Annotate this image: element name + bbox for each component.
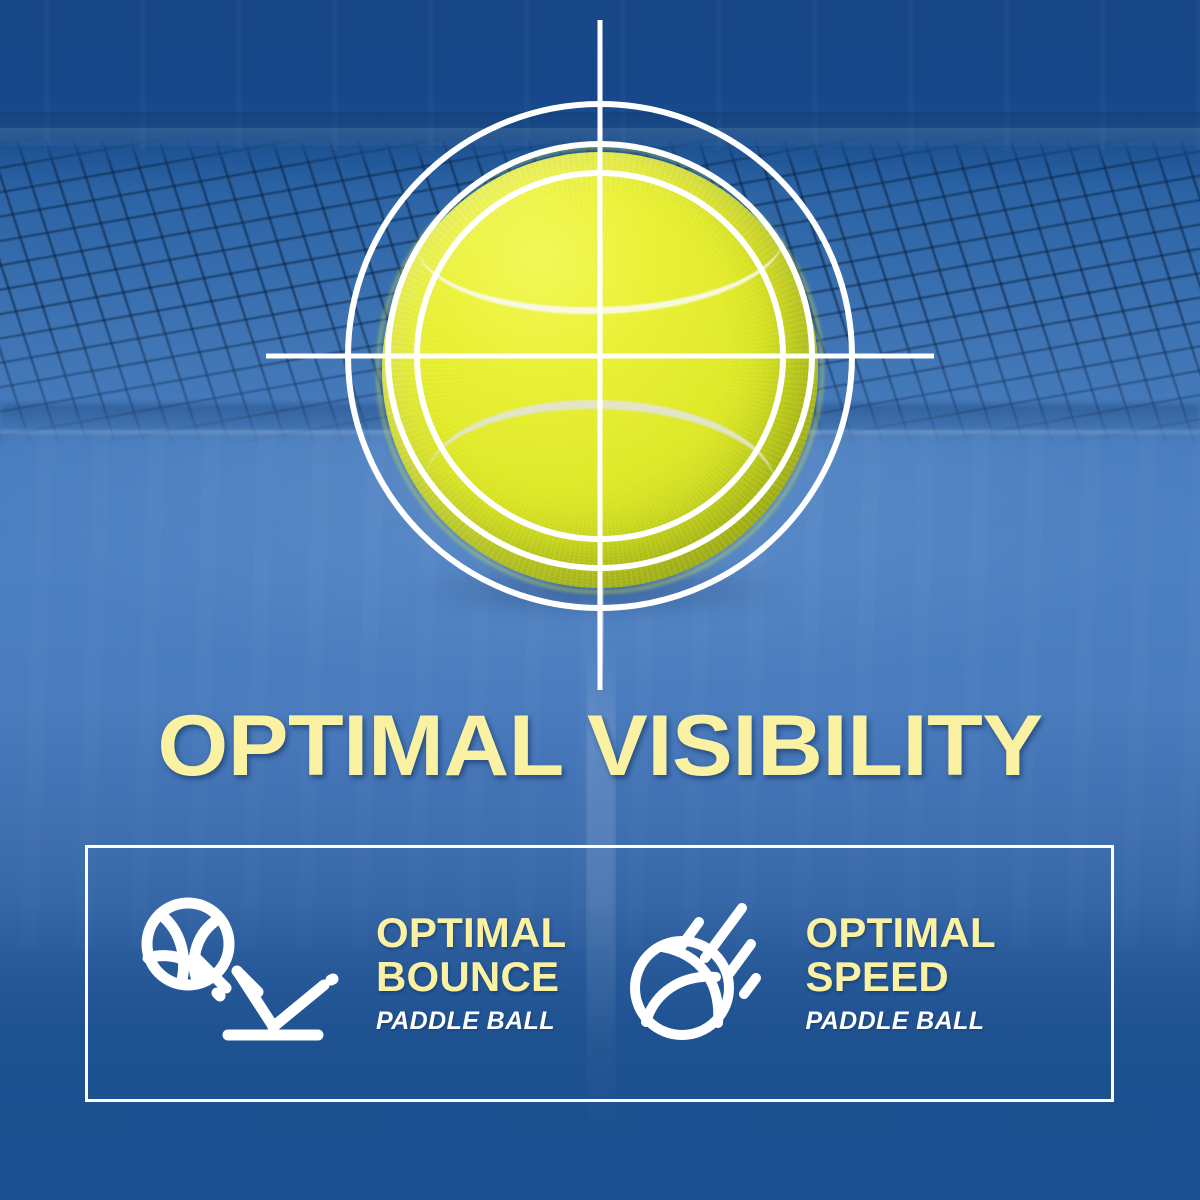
- ball-bounce-icon: [134, 896, 350, 1051]
- feature-title: OPTIMAL BOUNCE: [376, 911, 566, 998]
- feature-panel: OPTIMAL BOUNCE PADDLE BALL OPTIMAL SPEED…: [85, 845, 1114, 1102]
- feature-subtitle: PADDLE BALL: [376, 1007, 566, 1036]
- ball-speed-icon: [626, 896, 786, 1051]
- feature-optimal-speed: OPTIMAL SPEED PADDLE BALL: [620, 848, 1112, 1099]
- feature-optimal-bounce: OPTIMAL BOUNCE PADDLE BALL: [88, 848, 620, 1099]
- feature-text: OPTIMAL BOUNCE PADDLE BALL: [376, 911, 566, 1036]
- feature-title: OPTIMAL SPEED: [806, 911, 996, 998]
- promo-image: OPTIMAL VISIBILITY: [0, 0, 1200, 1200]
- tennis-ball: [382, 152, 818, 588]
- page-title: OPTIMAL VISIBILITY: [0, 703, 1200, 789]
- feature-subtitle: PADDLE BALL: [806, 1007, 996, 1036]
- feature-text: OPTIMAL SPEED PADDLE BALL: [806, 911, 996, 1036]
